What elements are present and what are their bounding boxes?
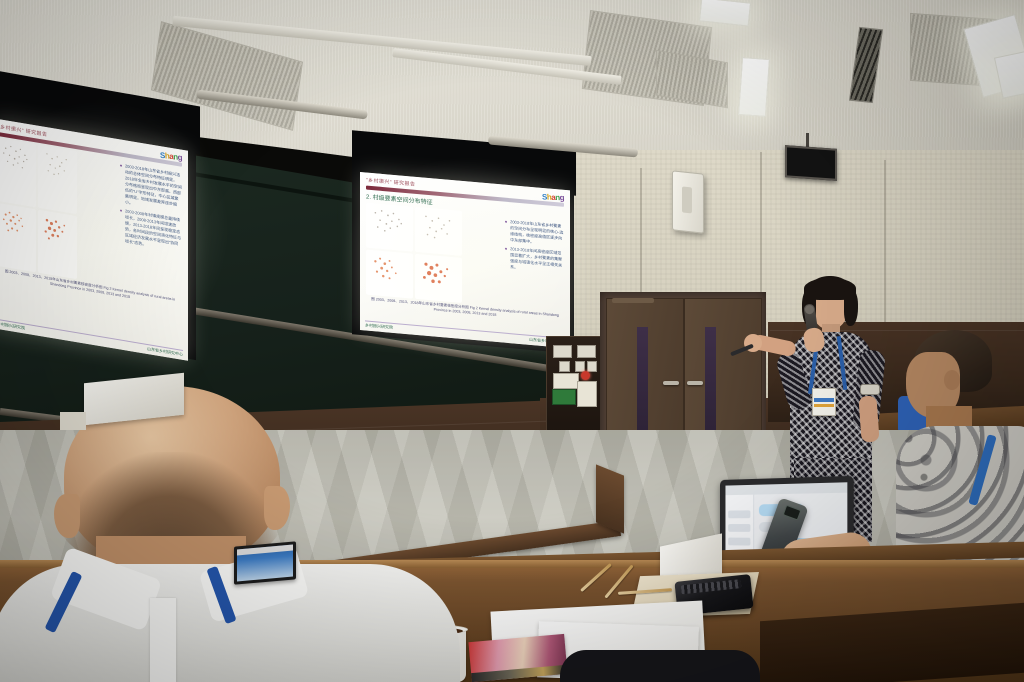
- door-closer-icon: [612, 298, 654, 303]
- presenter-hair-side-right: [844, 290, 858, 326]
- badge-blue-stripe: [814, 398, 834, 402]
- sidebar-entry[interactable]: [728, 524, 750, 532]
- density-map-2003: [366, 203, 413, 252]
- slide-right-bullets: 2003-2018年山东省乡村要素的空间分布呈现明显的核心-边缘结构，核密度高值…: [465, 215, 564, 308]
- door-handle-left[interactable]: [663, 381, 679, 385]
- light-switch-2[interactable]: [577, 345, 596, 358]
- bullet-item: 2003-2018年山东省乡村振兴活动的总体空间分布特征明显，2018年全省乡村…: [120, 162, 182, 214]
- man-right-ear: [944, 370, 960, 390]
- man-front-ear-right: [264, 486, 290, 530]
- phone-camera-icon: [783, 505, 802, 521]
- door-handle-right[interactable]: [687, 381, 703, 385]
- density-map-2018: [415, 254, 462, 303]
- man-front-shirt-placket: [150, 598, 176, 682]
- badge-yellow-stripe: [814, 404, 834, 407]
- projection-screen-right: "乡村振兴" 研究报告 Shang 2. 村级要素空间分布特征 2003-201…: [360, 172, 570, 348]
- green-equipment-box[interactable]: [552, 389, 576, 405]
- wall-seam-3: [640, 168, 642, 298]
- footer-left-text: 乡村振兴研究院: [365, 322, 393, 330]
- slide-left: "乡村振兴" 研究报告 Shang 2003-2018年山东省乡村振兴活动的总体…: [0, 118, 188, 361]
- wall-control-panel[interactable]: [546, 336, 606, 434]
- slide-left-bullets: 2003-2018年山东省乡村振兴活动的总体空间分布特征明显，2018年全省乡村…: [80, 156, 182, 293]
- wall-notice-card: [577, 381, 597, 407]
- footer-left-text: 乡村振兴研究院: [0, 321, 25, 332]
- sidebar-entry[interactable]: [728, 510, 750, 518]
- slide-left-maps: [0, 138, 77, 279]
- emergency-red-button[interactable]: [581, 371, 590, 380]
- light-switch-1[interactable]: [553, 345, 572, 358]
- attendee-bald-man: [20, 386, 440, 682]
- slide-right: "乡村振兴" 研究报告 Shang 2. 村级要素空间分布特征 2003-201…: [360, 172, 570, 348]
- shandong-logo: Shang: [542, 192, 564, 202]
- bullet-item: 2003-2008年村镇规模总量持续增长，2008-2013年间增速放缓，201…: [120, 207, 182, 253]
- bullet-item: 2003-2018年山东省乡村要素的空间分布呈现明显的核心-边缘结构，核密度高值…: [505, 219, 564, 248]
- instruction-label: [553, 373, 579, 389]
- ceiling-monitor: [785, 145, 837, 181]
- logo-letter-4: g: [559, 193, 564, 202]
- density-map-b: [38, 145, 76, 214]
- sidebar-entry[interactable]: [728, 538, 750, 546]
- density-map-c: [0, 203, 36, 272]
- foreground-chair-back: [560, 650, 760, 682]
- ceiling-panel-light-2: [738, 57, 770, 117]
- light-switch-3[interactable]: [559, 361, 570, 372]
- density-map-a: [0, 138, 36, 207]
- slide-right-body: 2003-2018年山东省乡村要素的空间分布呈现明显的核心-边缘结构，核密度高值…: [366, 203, 564, 312]
- podium-stand: [60, 412, 86, 430]
- wall-speaker: [672, 170, 704, 233]
- presenter-wristwatch: [860, 384, 880, 395]
- density-map-d: [38, 210, 76, 279]
- app-top-bar: [725, 482, 847, 495]
- lecture-room-photo: "乡村振兴" 研究报告 Shang 2003-2018年山东省乡村振兴活动的总体…: [0, 0, 1024, 682]
- platform-step-right: [596, 464, 624, 533]
- presenter-forearm-right: [858, 395, 879, 442]
- slide-right-maps: [366, 203, 462, 303]
- second-laptop[interactable]: [234, 541, 296, 584]
- bullet-item: 2013-2018年间高密度区域范围显著扩大，乡村要素的集聚强度与城镇化水平呈正…: [505, 246, 564, 275]
- density-map-2008: [415, 207, 462, 256]
- conference-name-badge: [812, 388, 836, 416]
- density-map-2013: [366, 250, 413, 299]
- projection-screen-left: "乡村振兴" 研究报告 Shang 2003-2018年山东省乡村振兴活动的总体…: [0, 118, 188, 361]
- light-switch-5[interactable]: [587, 361, 597, 372]
- man-front-ear-left: [54, 494, 80, 538]
- colorful-printed-booklet[interactable]: [468, 634, 567, 682]
- logo-letter-4: g: [177, 153, 182, 163]
